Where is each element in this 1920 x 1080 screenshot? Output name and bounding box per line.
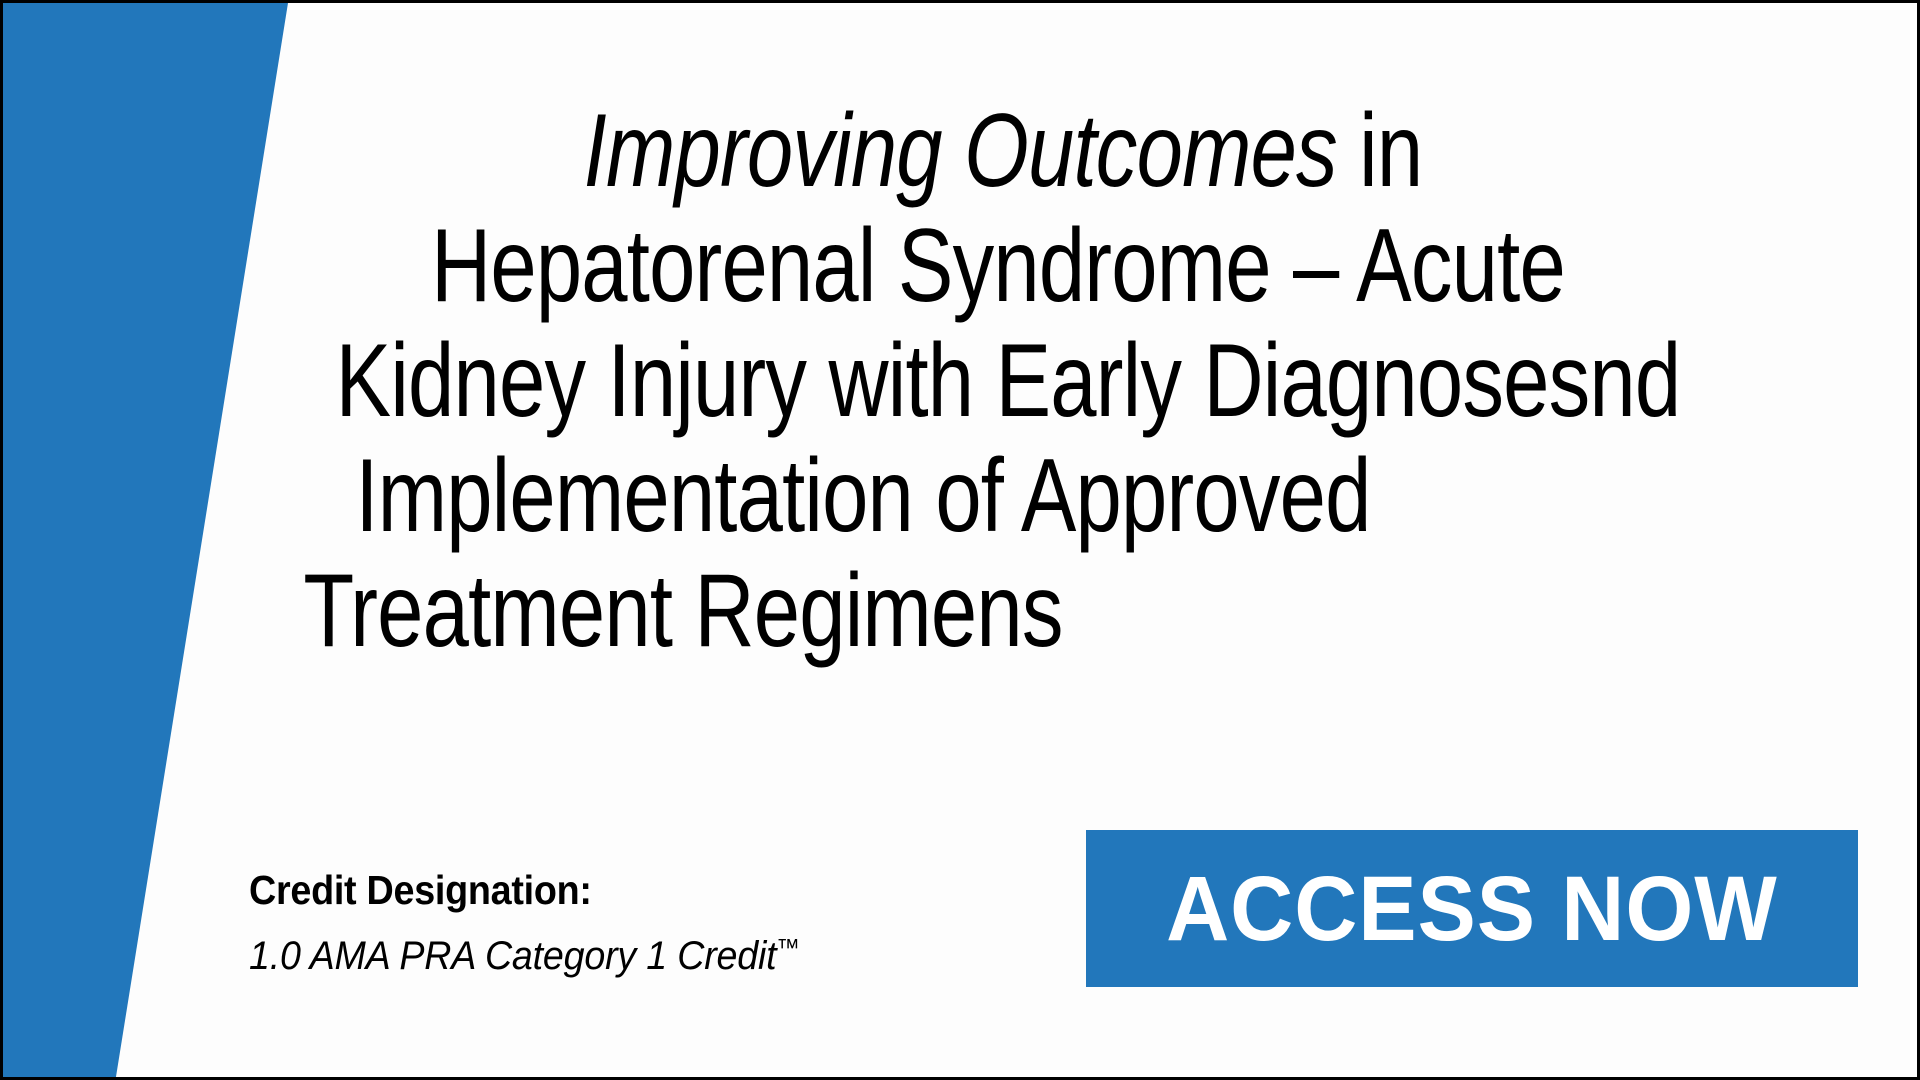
title-line-2: Hepatorenal Syndrome – Acute: [298, 214, 1698, 318]
credit-designation-block: Credit Designation: 1.0 AMA PRA Category…: [249, 865, 835, 982]
access-now-button[interactable]: ACCESS NOW: [1086, 830, 1858, 987]
credit-amount-text: 1.0 AMA PRA Category 1 Credit: [249, 934, 776, 978]
title-line-5: Treatment Regimens: [0, 559, 1635, 663]
title-line-4: Implementation of Approved: [55, 444, 1671, 548]
credit-designation-heading: Credit Designation:: [249, 865, 788, 915]
promo-slide: Improving Outcomes in Hepatorenal Syndro…: [0, 0, 1920, 1080]
access-now-button-label: ACCESS NOW: [1166, 863, 1778, 955]
page-title: Improving Outcomes in Hepatorenal Syndro…: [253, 99, 1873, 674]
title-line-1-tail: in: [1337, 93, 1422, 209]
title-line-1: Improving Outcomes in: [307, 99, 1699, 203]
title-emphasis: Improving Outcomes: [584, 93, 1337, 209]
title-line-3: Kidney Injury with Early Diagnosesnd: [316, 329, 1700, 433]
trademark-symbol: ™: [776, 935, 799, 962]
credit-designation-detail: 1.0 AMA PRA Category 1 Credit™: [249, 923, 800, 982]
